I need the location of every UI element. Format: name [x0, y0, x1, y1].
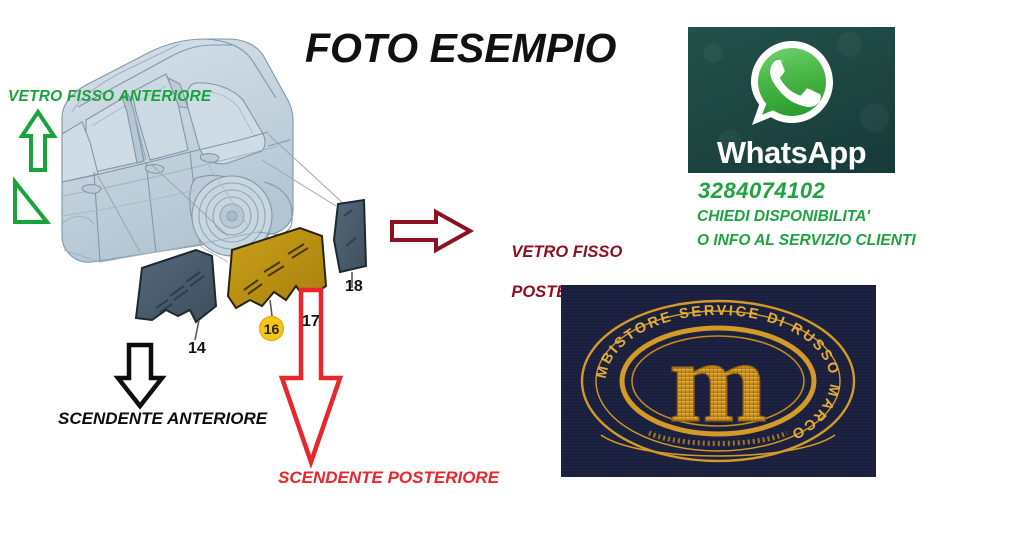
- contact-phone-number[interactable]: 3284074102: [698, 178, 825, 204]
- whatsapp-phone-bubble-icon: [744, 35, 840, 136]
- whatsapp-wordmark: WhatsApp: [717, 135, 866, 171]
- contact-text-line-2: O INFO AL SERVIZIO CLIENTI: [697, 232, 916, 250]
- annotation-label-scendente-anteriore: SCENDENTE ANTERIORE: [58, 409, 267, 428]
- car-line-drawing: [62, 39, 293, 262]
- green-up-arrow-icon: [22, 112, 54, 170]
- part-callout-18: 18: [345, 278, 363, 296]
- part-callout-16-badge: 16: [259, 316, 284, 341]
- part-callout-14: 14: [188, 340, 206, 358]
- dark-red-right-arrow-icon: [392, 212, 470, 250]
- shop-logo-emblem: MRICAMBISTORE SERVICE DI RUSSO MARCO m: [561, 285, 876, 477]
- shop-logo-monogram: m: [669, 316, 767, 447]
- green-triangle-icon: [15, 182, 47, 222]
- annotation-label-scendente-posteriore: SCENDENTE POSTERIORE: [278, 468, 499, 487]
- contact-text-line-1: CHIEDI DISPONIBILITA': [697, 208, 870, 226]
- annotation-label-vetro-fisso-anteriore: VETRO FISSO ANTERIORE: [8, 88, 211, 105]
- shop-logo-plate: MRICAMBISTORE SERVICE DI RUSSO MARCO m: [561, 285, 876, 477]
- annotation-label-line-1: VETRO FISSO: [511, 243, 622, 261]
- screenshot-canvas: FOTO ESEMPIO VETRO FISSO ANTERIORE VETRO…: [0, 0, 1015, 544]
- part-14-glass: [136, 250, 216, 340]
- svg-text:m: m: [669, 316, 767, 447]
- whatsapp-banner[interactable]: WhatsApp: [688, 27, 895, 173]
- part-callout-17: 17: [302, 313, 320, 331]
- page-title: FOTO ESEMPIO: [305, 26, 616, 72]
- part-18-glass: [334, 200, 366, 288]
- black-down-arrow-icon: [118, 345, 162, 406]
